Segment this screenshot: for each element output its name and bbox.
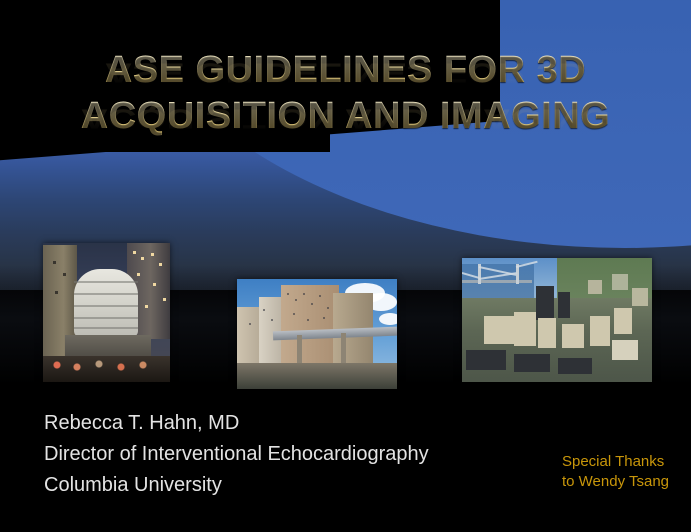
author-info: Rebecca T. Hahn, MD Director of Interven…	[44, 408, 429, 501]
photo-medical-building-content	[43, 243, 170, 382]
photo-hospital-skybridge	[237, 279, 397, 389]
title-line-2-wrap: ACQUISITION AND IMAGING ACQUISITION AND …	[0, 94, 691, 140]
special-thanks-line-1: Special Thanks	[562, 452, 669, 472]
title-line-1: ASE GUIDELINES FOR 3D	[0, 48, 691, 92]
author-name: Rebecca T. Hahn, MD	[44, 408, 429, 439]
special-thanks-line-2: to Wendy Tsang	[562, 472, 669, 492]
presentation-slide: ASE GUIDELINES FOR 3D ASE GUIDELINES FOR…	[0, 0, 691, 532]
photo-aerial-city-content	[462, 258, 652, 382]
foreground-street	[237, 363, 397, 389]
slide-title: ASE GUIDELINES FOR 3D ASE GUIDELINES FOR…	[0, 48, 691, 140]
photo-hospital-skybridge-content	[237, 279, 397, 389]
car-lights	[47, 360, 166, 372]
special-thanks: Special Thanks to Wendy Tsang	[562, 452, 669, 492]
building-c	[281, 285, 339, 369]
glass-facade	[74, 269, 138, 337]
author-institution: Columbia University	[44, 470, 429, 501]
author-role: Director of Interventional Echocardiogra…	[44, 439, 429, 470]
bridge-deck	[462, 280, 532, 283]
photo-medical-building	[43, 243, 170, 382]
photo-aerial-city	[462, 258, 652, 382]
title-line-2: ACQUISITION AND IMAGING	[0, 94, 691, 138]
title-line-1-wrap: ASE GUIDELINES FOR 3D ASE GUIDELINES FOR…	[0, 48, 691, 94]
